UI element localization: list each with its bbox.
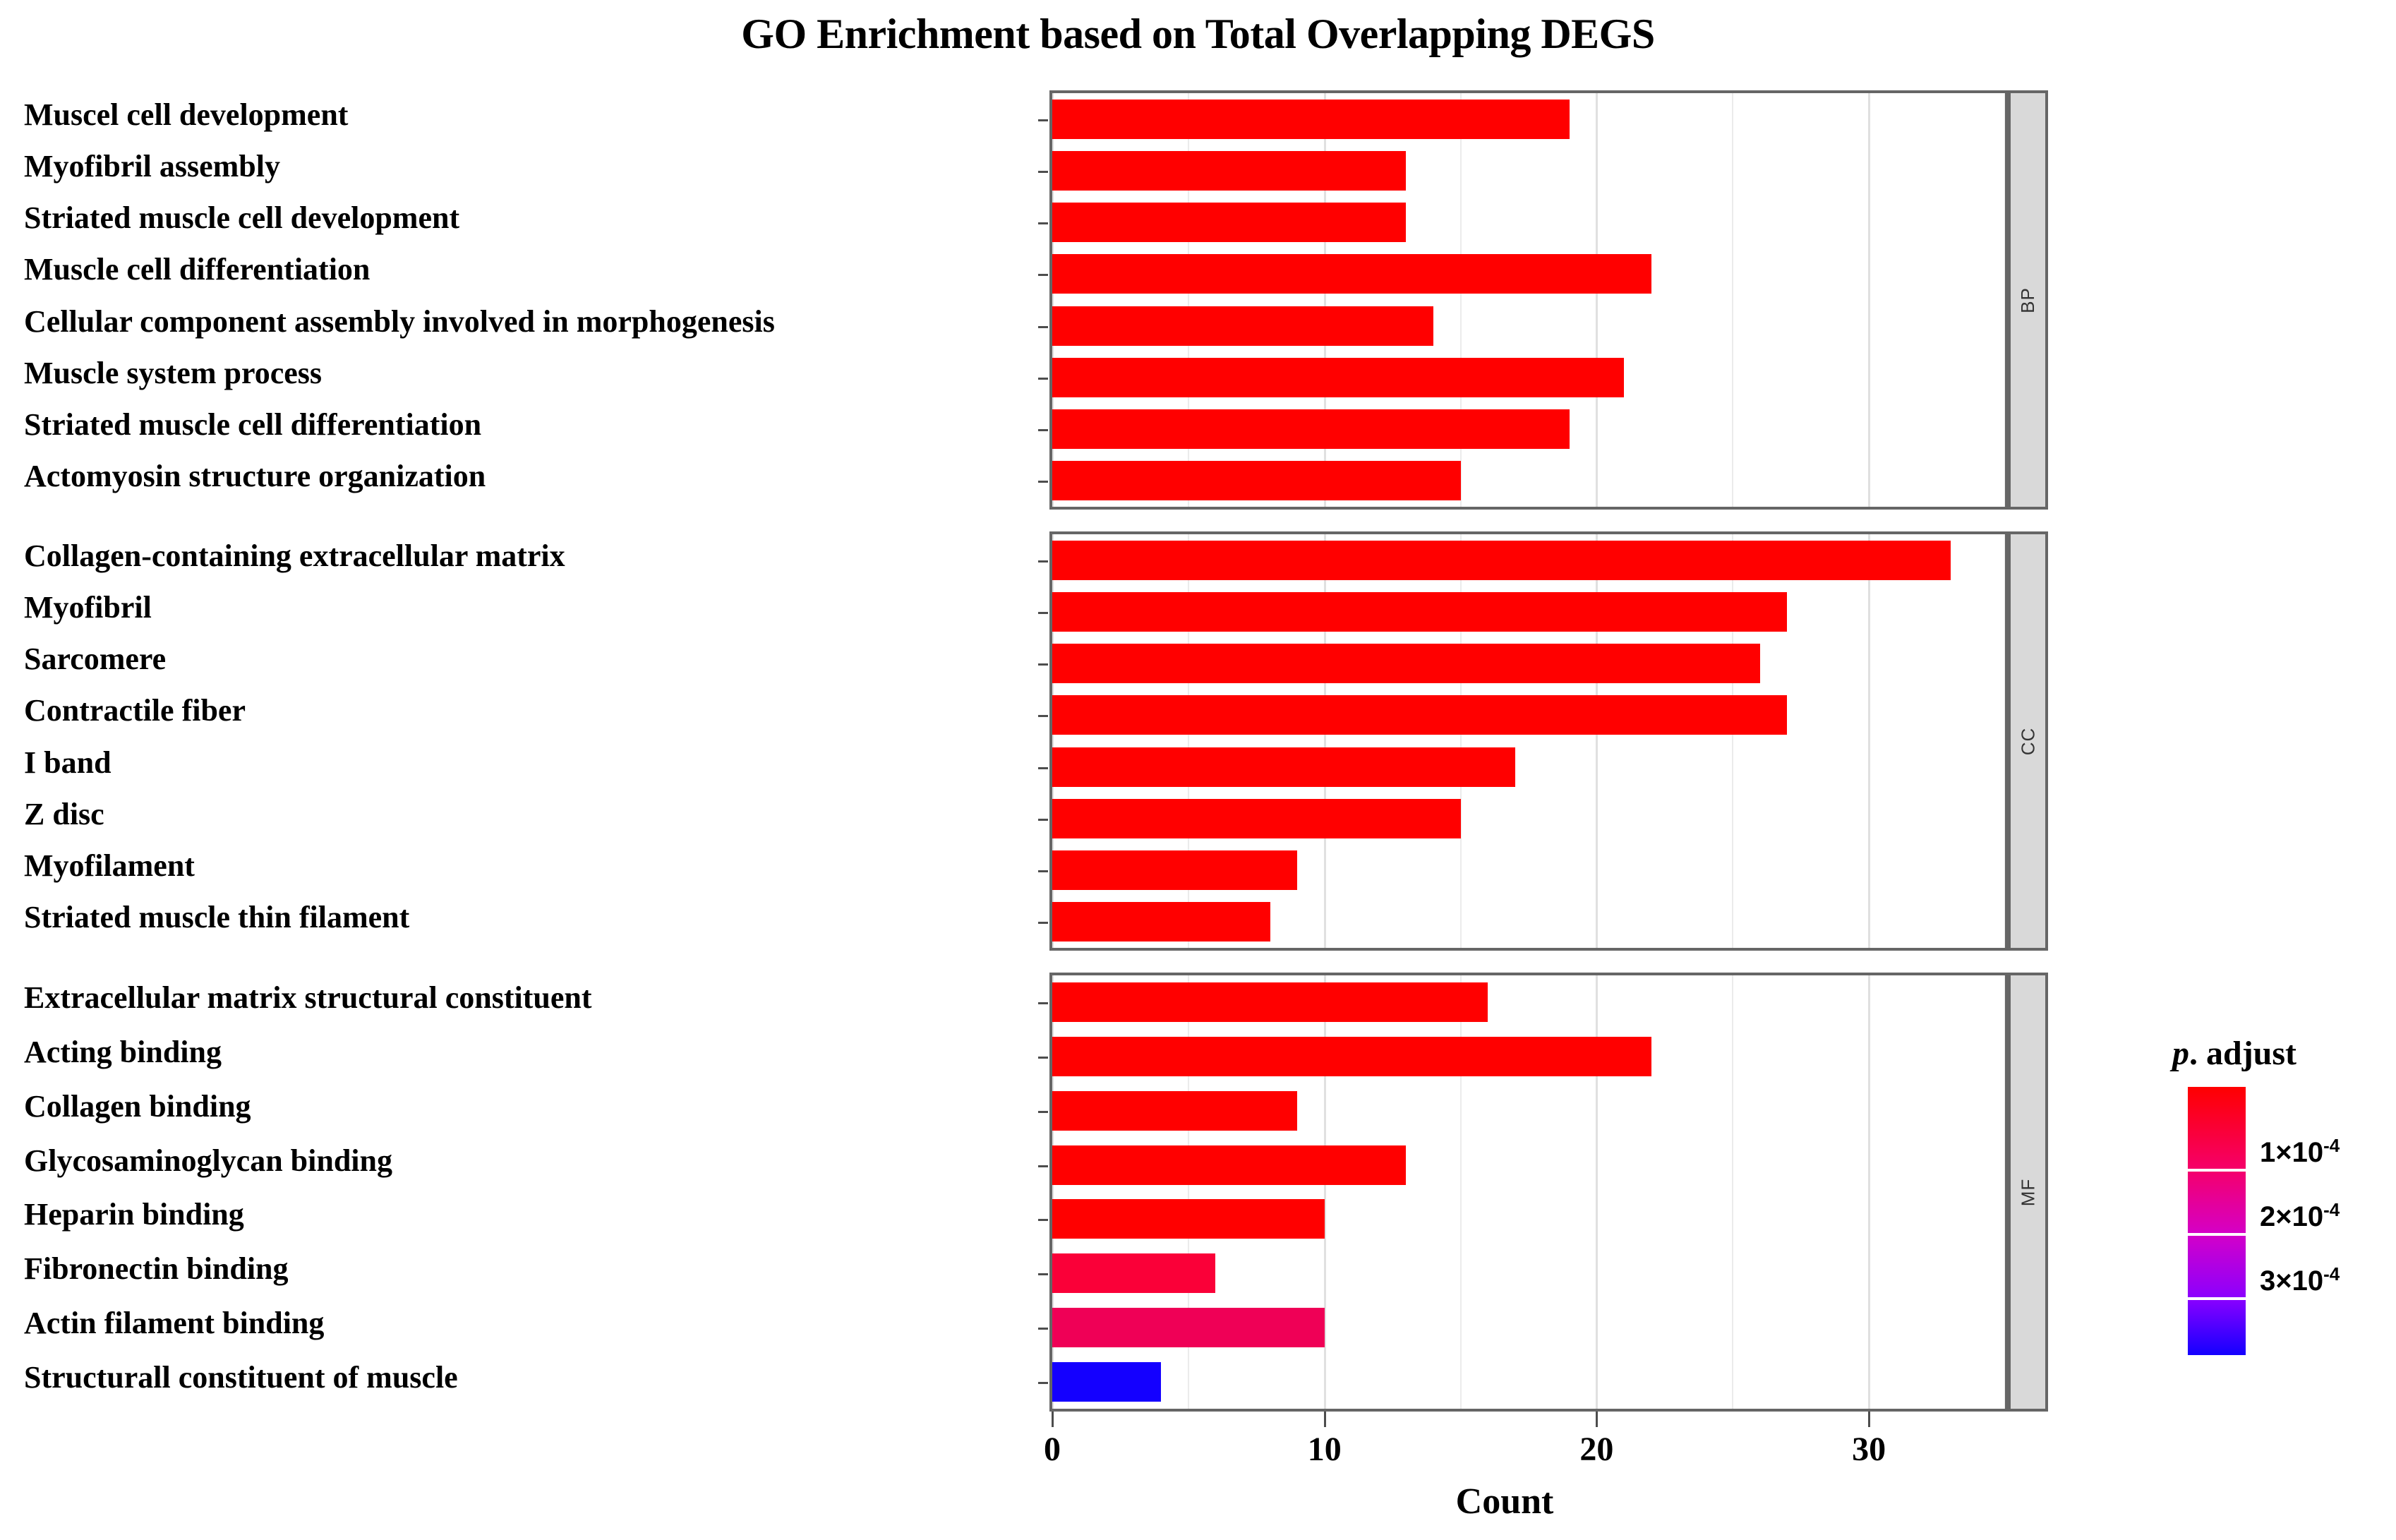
y-axis-tick <box>1038 715 1048 717</box>
facet-panel-mf <box>1049 973 2008 1412</box>
y-axis-label: Striated muscle thin filament <box>24 902 409 933</box>
bar <box>1052 254 1651 294</box>
bar <box>1052 151 1406 191</box>
y-axis-tick <box>1038 171 1048 173</box>
legend-label-mantissa: 1×10 <box>2260 1137 2323 1168</box>
facet-strip-cc: CC <box>2008 531 2048 951</box>
bar <box>1052 902 1270 942</box>
y-axis-label: Myofilament <box>24 850 195 882</box>
legend-gradient-bar <box>2188 1087 2246 1355</box>
x-axis-title: Count <box>1049 1481 1960 1522</box>
legend-label-exponent: -4 <box>2323 1135 2340 1156</box>
legend-label-exponent: -4 <box>2323 1263 2340 1285</box>
legend: p. adjust 1×10-42×10-43×10-4 <box>2167 1034 2392 1369</box>
bar <box>1052 592 1787 632</box>
y-axis-label: Glycosaminoglycan binding <box>24 1145 392 1177</box>
y-axis-label: Heparin binding <box>24 1199 244 1230</box>
bar <box>1052 850 1297 890</box>
legend-title-rest: . adjust <box>2189 1035 2296 1072</box>
x-axis-tick-0 <box>1052 1412 1054 1427</box>
y-axis-tick <box>1038 481 1048 483</box>
y-axis-tick <box>1038 767 1048 769</box>
legend-label-2: 2×10-4 <box>2260 1199 2340 1233</box>
y-axis-tick <box>1038 1219 1048 1221</box>
bar <box>1052 799 1461 838</box>
bar <box>1052 409 1570 449</box>
x-axis-tick-10 <box>1324 1412 1326 1427</box>
y-axis-label: Cellular component assembly involved in … <box>24 306 775 337</box>
gridline-x-35 <box>2004 93 2005 507</box>
legend-title-italic-p: p <box>2172 1035 2189 1072</box>
legend-title: p. adjust <box>2172 1034 2392 1073</box>
bar <box>1052 306 1433 346</box>
y-axis-label: Contractile fiber <box>24 695 246 726</box>
y-axis-label: Muscle system process <box>24 358 322 389</box>
y-axis-tick <box>1038 326 1048 328</box>
legend-label-1: 1×10-4 <box>2260 1135 2340 1169</box>
y-axis-label: Muscel cell development <box>24 100 348 131</box>
bar <box>1052 1253 1215 1293</box>
bar <box>1052 1308 1325 1347</box>
y-axis-tick <box>1038 429 1048 431</box>
gridline-x-30 <box>1868 975 1870 1409</box>
y-axis-label: Collagen binding <box>24 1091 251 1122</box>
y-axis-label: Myofibril <box>24 592 152 623</box>
facet-strip-bp: BP <box>2008 90 2048 510</box>
bar <box>1052 1091 1297 1131</box>
y-axis-tick <box>1038 222 1048 224</box>
y-axis-tick <box>1038 1382 1048 1384</box>
legend-label-exponent: -4 <box>2323 1199 2340 1220</box>
bar <box>1052 1037 1651 1076</box>
facet-strip-label-mf: MF <box>2017 1178 2039 1206</box>
facet-panel-bp <box>1049 90 2008 510</box>
y-axis-tick <box>1038 378 1048 380</box>
gridline-x-20 <box>1596 93 1598 507</box>
y-axis-tick <box>1038 1273 1048 1275</box>
y-axis-label: Structurall constituent of muscle <box>24 1362 458 1393</box>
x-axis-tick-label-10: 10 <box>1308 1430 1342 1469</box>
bar <box>1052 982 1488 1022</box>
plot-area: BP CC MF <box>1049 90 2048 1412</box>
x-axis-tick-30 <box>1868 1412 1870 1427</box>
y-axis-tick <box>1038 119 1048 121</box>
bar <box>1052 1199 1325 1239</box>
y-axis-label: Acting binding <box>24 1037 222 1068</box>
bar <box>1052 1362 1161 1402</box>
x-axis-tick-20 <box>1596 1412 1598 1427</box>
y-axis-label: I band <box>24 747 112 778</box>
facet-strip-mf: MF <box>2008 973 2048 1412</box>
bar <box>1052 1145 1406 1185</box>
bar <box>1052 358 1624 397</box>
gridline-x-30 <box>1868 93 1870 507</box>
facet-strip-label-bp: BP <box>2017 287 2039 313</box>
gridline-x-35 <box>2004 534 2005 948</box>
legend-label-mantissa: 2×10 <box>2260 1201 2323 1232</box>
y-axis-tick <box>1038 1002 1048 1004</box>
y-axis-label: Muscle cell differentiation <box>24 254 370 285</box>
bar <box>1052 747 1515 787</box>
bar <box>1052 461 1461 500</box>
y-axis-tick <box>1038 1165 1048 1167</box>
gridline-x-35 <box>2004 975 2005 1409</box>
bar <box>1052 695 1787 735</box>
y-axis-label: Z disc <box>24 799 104 830</box>
y-axis-label: Actin filament binding <box>24 1308 324 1339</box>
bar <box>1052 100 1570 139</box>
y-axis-label: Extracellular matrix structural constitu… <box>24 982 591 1013</box>
legend-colorbar: 1×10-42×10-43×10-4 <box>2167 1087 2392 1369</box>
y-axis-label: Fibronectin binding <box>24 1253 289 1285</box>
y-axis-label: Actomyosin structure organization <box>24 461 486 492</box>
y-axis-label: Myofibril assembly <box>24 151 280 182</box>
y-axis-tick <box>1038 819 1048 821</box>
bar <box>1052 644 1760 683</box>
y-axis-label: Collagen-containing extracellular matrix <box>24 541 565 572</box>
y-axis-tick <box>1038 922 1048 924</box>
legend-tick-1 <box>2188 1169 2246 1172</box>
gridline-x-30 <box>1868 534 1870 948</box>
y-axis-label: Striated muscle cell development <box>24 203 459 234</box>
y-axis-label: Sarcomere <box>24 644 166 675</box>
gridline-x-25 <box>1732 93 1733 507</box>
gridline-x-25 <box>1732 975 1733 1409</box>
legend-tick-3 <box>2188 1297 2246 1300</box>
y-axis-label: Striated muscle cell differentiation <box>24 409 481 440</box>
x-axis-tick-label-20: 20 <box>1579 1430 1613 1469</box>
legend-label-3: 3×10-4 <box>2260 1263 2340 1297</box>
bar <box>1052 203 1406 242</box>
page-title: GO Enrichment based on Total Overlapping… <box>0 10 2396 59</box>
y-axis-tick <box>1038 1328 1048 1330</box>
y-axis-tick <box>1038 274 1048 276</box>
y-axis-tick <box>1038 560 1048 563</box>
y-axis-tick <box>1038 663 1048 666</box>
y-axis-tick <box>1038 1057 1048 1059</box>
facet-strip-label-cc: CC <box>2017 727 2039 755</box>
y-axis-tick <box>1038 1111 1048 1113</box>
y-axis-tick <box>1038 612 1048 614</box>
x-axis-tick-label-0: 0 <box>1044 1430 1061 1469</box>
facet-panel-cc <box>1049 531 2008 951</box>
y-axis-tick <box>1038 870 1048 872</box>
bar <box>1052 541 1951 580</box>
legend-label-mantissa: 3×10 <box>2260 1265 2323 1297</box>
x-axis-tick-label-30: 30 <box>1852 1430 1886 1469</box>
legend-tick-2 <box>2188 1233 2246 1236</box>
